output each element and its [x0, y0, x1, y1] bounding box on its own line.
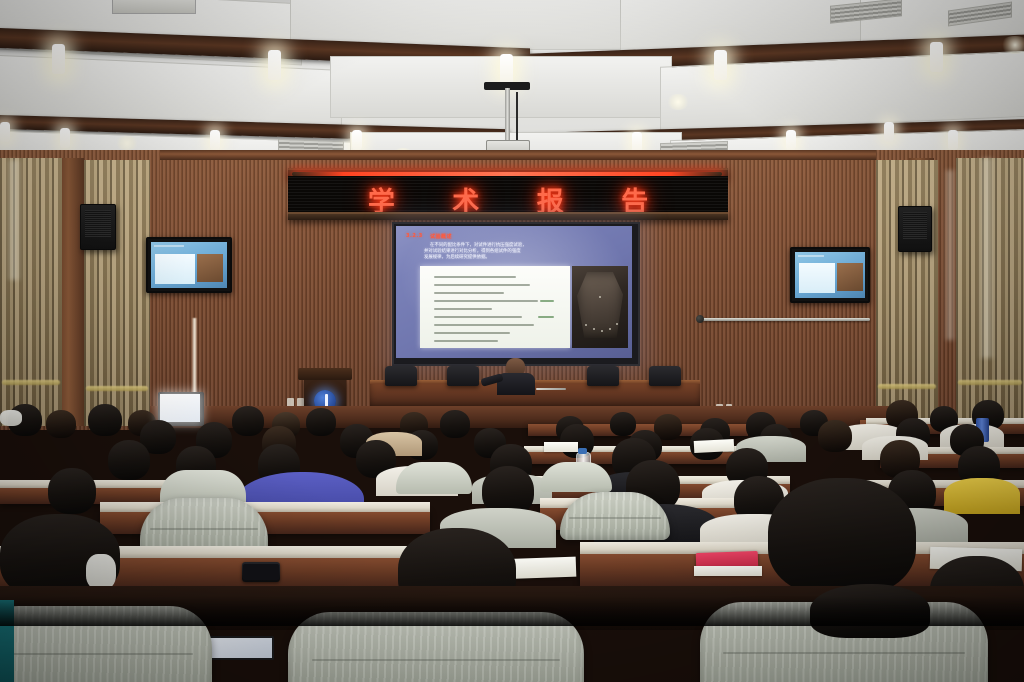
- wall-speaker-left: [80, 204, 116, 250]
- monitor-doc-left: [155, 254, 195, 284]
- smartphone: [242, 562, 280, 582]
- monitor-photo-left: [197, 254, 223, 282]
- slide-heading: 试验概述: [430, 233, 452, 240]
- attendee-head: [440, 410, 470, 438]
- ceiling-downlight: [352, 130, 362, 150]
- yellow-top-attendee: [944, 478, 1020, 514]
- attendee-head: [88, 404, 122, 436]
- ceiling: [0, 0, 1024, 175]
- ceiling-downlight: [948, 130, 958, 150]
- curtain-tieback: [2, 380, 60, 385]
- monitor-photo-right: [837, 263, 863, 291]
- ceiling-downlight: [786, 130, 796, 150]
- lecture-hall-photo: 学 术 报 告 3.2.3 试验概述 在不同的配比条件下，对试件进行抗压强度试验…: [0, 0, 1024, 682]
- curtain-tieback: [958, 380, 1022, 385]
- slide-section-number: 3.2.3: [406, 233, 423, 239]
- projection-screen-frame: 3.2.3 试验概述 在不同的配比条件下，对试件进行抗压强度试验， 并对试验结果…: [392, 222, 640, 366]
- head-table-chair: [649, 366, 681, 386]
- curtain-tieback: [878, 384, 936, 389]
- papers: [694, 439, 735, 453]
- attendee-head: [48, 468, 96, 514]
- ceiling-downlight: [60, 128, 70, 148]
- ceiling-downlight: [52, 44, 65, 74]
- wall-trim: [150, 150, 890, 160]
- projection-screen: 3.2.3 试验概述 在不同的配比条件下，对试件进行抗压强度试验， 并对试验结果…: [396, 226, 632, 358]
- ceiling-downlight: [268, 50, 281, 80]
- attendee-head: [232, 406, 264, 436]
- monitor-doc-right: [799, 263, 835, 293]
- curtain-rail: [700, 318, 870, 321]
- ceiling-downlight: [210, 130, 220, 150]
- auditorium-seat: [396, 462, 472, 494]
- slide-photo-inset: [572, 266, 628, 348]
- head-table-chair: [385, 366, 417, 386]
- attendee-head: [46, 410, 76, 438]
- led-banner-text: 学 术 报 告: [300, 180, 728, 214]
- wall-monitor-left: [146, 237, 232, 293]
- ceiling-downlight: [500, 54, 513, 84]
- microphone: [536, 388, 566, 390]
- ceiling-downlight: [632, 132, 642, 152]
- attendee-head: [306, 408, 336, 436]
- face-mask: [86, 554, 116, 590]
- rail-end-knob: [696, 315, 704, 323]
- head-table-chair: [447, 366, 479, 386]
- ac-vent-unit: [112, 0, 196, 14]
- wall-speaker-right: [898, 206, 932, 252]
- podium-top: [298, 368, 352, 380]
- slide-body-line: 发展规律，为后续研究提供依据。: [424, 255, 490, 261]
- ceiling-downlight: [0, 122, 10, 142]
- attendee-head: [108, 440, 150, 480]
- auditorium-seat: [540, 462, 612, 492]
- papers: [694, 566, 762, 576]
- wall-monitor-right: [790, 247, 870, 303]
- attendee-head: [818, 420, 852, 452]
- attendee-head: [768, 478, 916, 596]
- auditorium-seat: [560, 492, 670, 540]
- head-table-chair: [587, 366, 619, 386]
- attendee-head: [610, 412, 636, 436]
- ceiling-downlight: [930, 42, 943, 72]
- slide-document-inset: [420, 266, 570, 348]
- papers: [544, 442, 578, 452]
- face-mask: [0, 410, 22, 426]
- curtain-tieback: [86, 386, 148, 391]
- ceiling-downlight: [714, 50, 727, 80]
- ceiling-downlight: [884, 122, 894, 142]
